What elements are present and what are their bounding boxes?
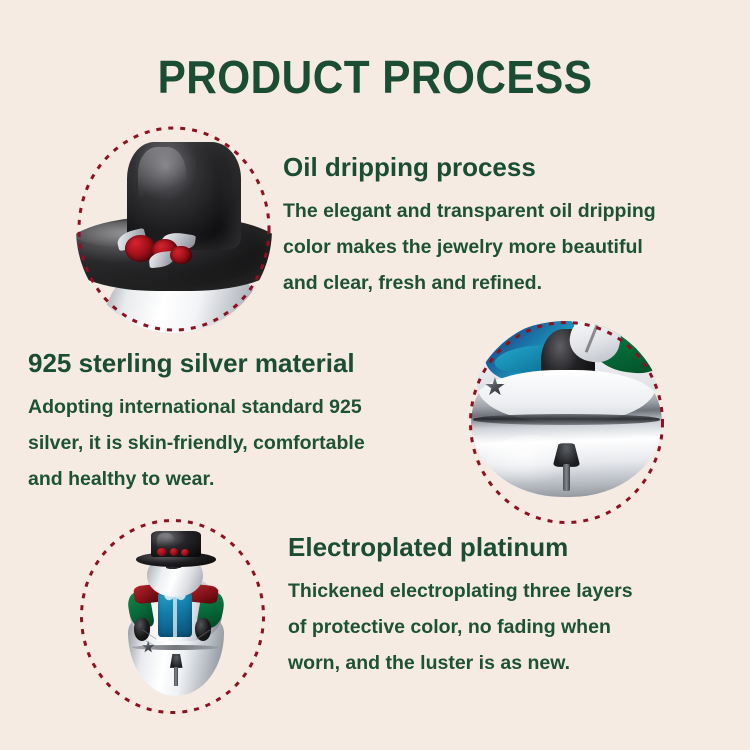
page-title: PRODUCT PROCESS: [30, 50, 720, 104]
product-photo-sterling-silver: [467, 319, 666, 526]
feature-line: Adopting international standard 925: [28, 389, 365, 425]
feature-line: and healthy to wear.: [28, 461, 365, 497]
feature-block-sterling-silver: 925 sterling silver material Adopting in…: [28, 348, 365, 497]
holly-berry-icon: [181, 549, 188, 556]
snowman-top-hat-closeup-art: [76, 125, 272, 333]
gift-box-icon: [158, 592, 192, 638]
feature-heading-electroplated-platinum: Electroplated platinum: [288, 532, 633, 562]
feature-line: and clear, fresh and refined.: [283, 265, 656, 301]
feature-block-oil-dripping: Oil dripping process The elegant and tra…: [283, 152, 656, 301]
bell-slot: [553, 443, 581, 489]
bell-slot-stem: [174, 667, 178, 686]
feature-line: worn, and the luster is as new.: [288, 645, 633, 681]
photo-clip-oil-dripping: [76, 125, 272, 333]
feature-line: color makes the jewelry more beautiful: [283, 229, 656, 265]
photo-clip-electroplated-platinum: [79, 517, 266, 716]
feature-line: of protective color, no fading when: [288, 609, 633, 645]
feature-heading-sterling-silver: 925 sterling silver material: [28, 348, 365, 378]
feature-line: silver, it is skin-friendly, comfortable: [28, 425, 365, 461]
infographic-page: PRODUCT PROCESS: [0, 0, 750, 750]
feature-line: The elegant and transparent oil dripping: [283, 193, 656, 229]
bell-seam-line: [473, 414, 660, 424]
photo-clip-sterling-silver: [467, 319, 666, 526]
holly-berry-icon: [170, 548, 178, 556]
product-photo-electroplated-platinum: [79, 517, 266, 716]
bell-top-scene: [477, 321, 656, 422]
feature-line: Thickened electroplating three layers: [288, 573, 633, 609]
feature-block-electroplated-platinum: Electroplated platinum Thickened electro…: [288, 532, 633, 681]
holly-berry-icon: [170, 246, 192, 265]
holly-berry-icon: [157, 548, 166, 556]
bell-slot-stem: [563, 464, 571, 490]
feature-heading-oil-dripping: Oil dripping process: [283, 152, 656, 182]
snowman-figure: [124, 533, 229, 696]
product-photo-oil-dripping: [76, 125, 272, 333]
snowman-bell-charm-full-art: [79, 517, 266, 716]
silver-jingle-bell-top-view-art: [467, 319, 666, 526]
bell-slot: [170, 654, 183, 685]
